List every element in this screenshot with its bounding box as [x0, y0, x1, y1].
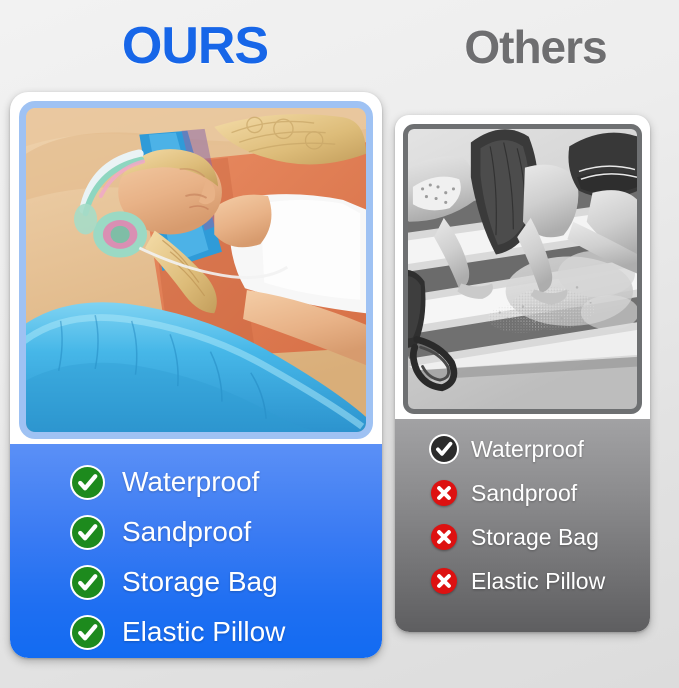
list-item: Storage Bag [72, 557, 382, 607]
ours-photo-illustration [26, 108, 366, 432]
feature-label: Elastic Pillow [122, 616, 285, 648]
feature-label: Waterproof [471, 436, 584, 463]
others-feature-panel: Waterproof Sandproof Storage Bag [395, 419, 650, 632]
cross-circle-icon [431, 524, 457, 550]
check-circle-icon [431, 436, 457, 462]
feature-label: Sandproof [471, 480, 577, 507]
others-column-title: Others [392, 24, 679, 70]
list-item: Storage Bag [431, 515, 650, 559]
cross-circle-icon [431, 568, 457, 594]
others-photo-illustration [408, 129, 637, 409]
others-product-photo [408, 129, 637, 409]
ours-feature-panel: Waterproof Sandproof Storage Bag Elastic… [10, 444, 382, 658]
ours-feature-list: Waterproof Sandproof Storage Bag Elastic… [10, 444, 382, 657]
list-item: Elastic Pillow [72, 607, 382, 657]
ours-column-title: OURS [0, 20, 390, 72]
ours-comparison-card: Waterproof Sandproof Storage Bag Elastic… [10, 92, 382, 658]
others-photo-frame [403, 124, 642, 414]
check-circle-icon [72, 467, 103, 498]
feature-label: Storage Bag [122, 566, 278, 598]
list-item: Waterproof [72, 457, 382, 507]
feature-label: Sandproof [122, 516, 251, 548]
check-circle-icon [72, 617, 103, 648]
ours-photo-frame [19, 101, 373, 439]
list-item: Elastic Pillow [431, 559, 650, 603]
list-item: Waterproof [431, 427, 650, 471]
others-comparison-card: Waterproof Sandproof Storage Bag [395, 115, 650, 632]
feature-label: Waterproof [122, 466, 259, 498]
list-item: Sandproof [431, 471, 650, 515]
cross-circle-icon [431, 480, 457, 506]
check-circle-icon [72, 517, 103, 548]
check-circle-icon [72, 567, 103, 598]
feature-label: Elastic Pillow [471, 568, 605, 595]
ours-product-photo [26, 108, 366, 432]
headers-row: OURS Others [0, 0, 679, 92]
list-item: Sandproof [72, 507, 382, 557]
others-feature-list: Waterproof Sandproof Storage Bag [395, 419, 650, 603]
feature-label: Storage Bag [471, 524, 599, 551]
